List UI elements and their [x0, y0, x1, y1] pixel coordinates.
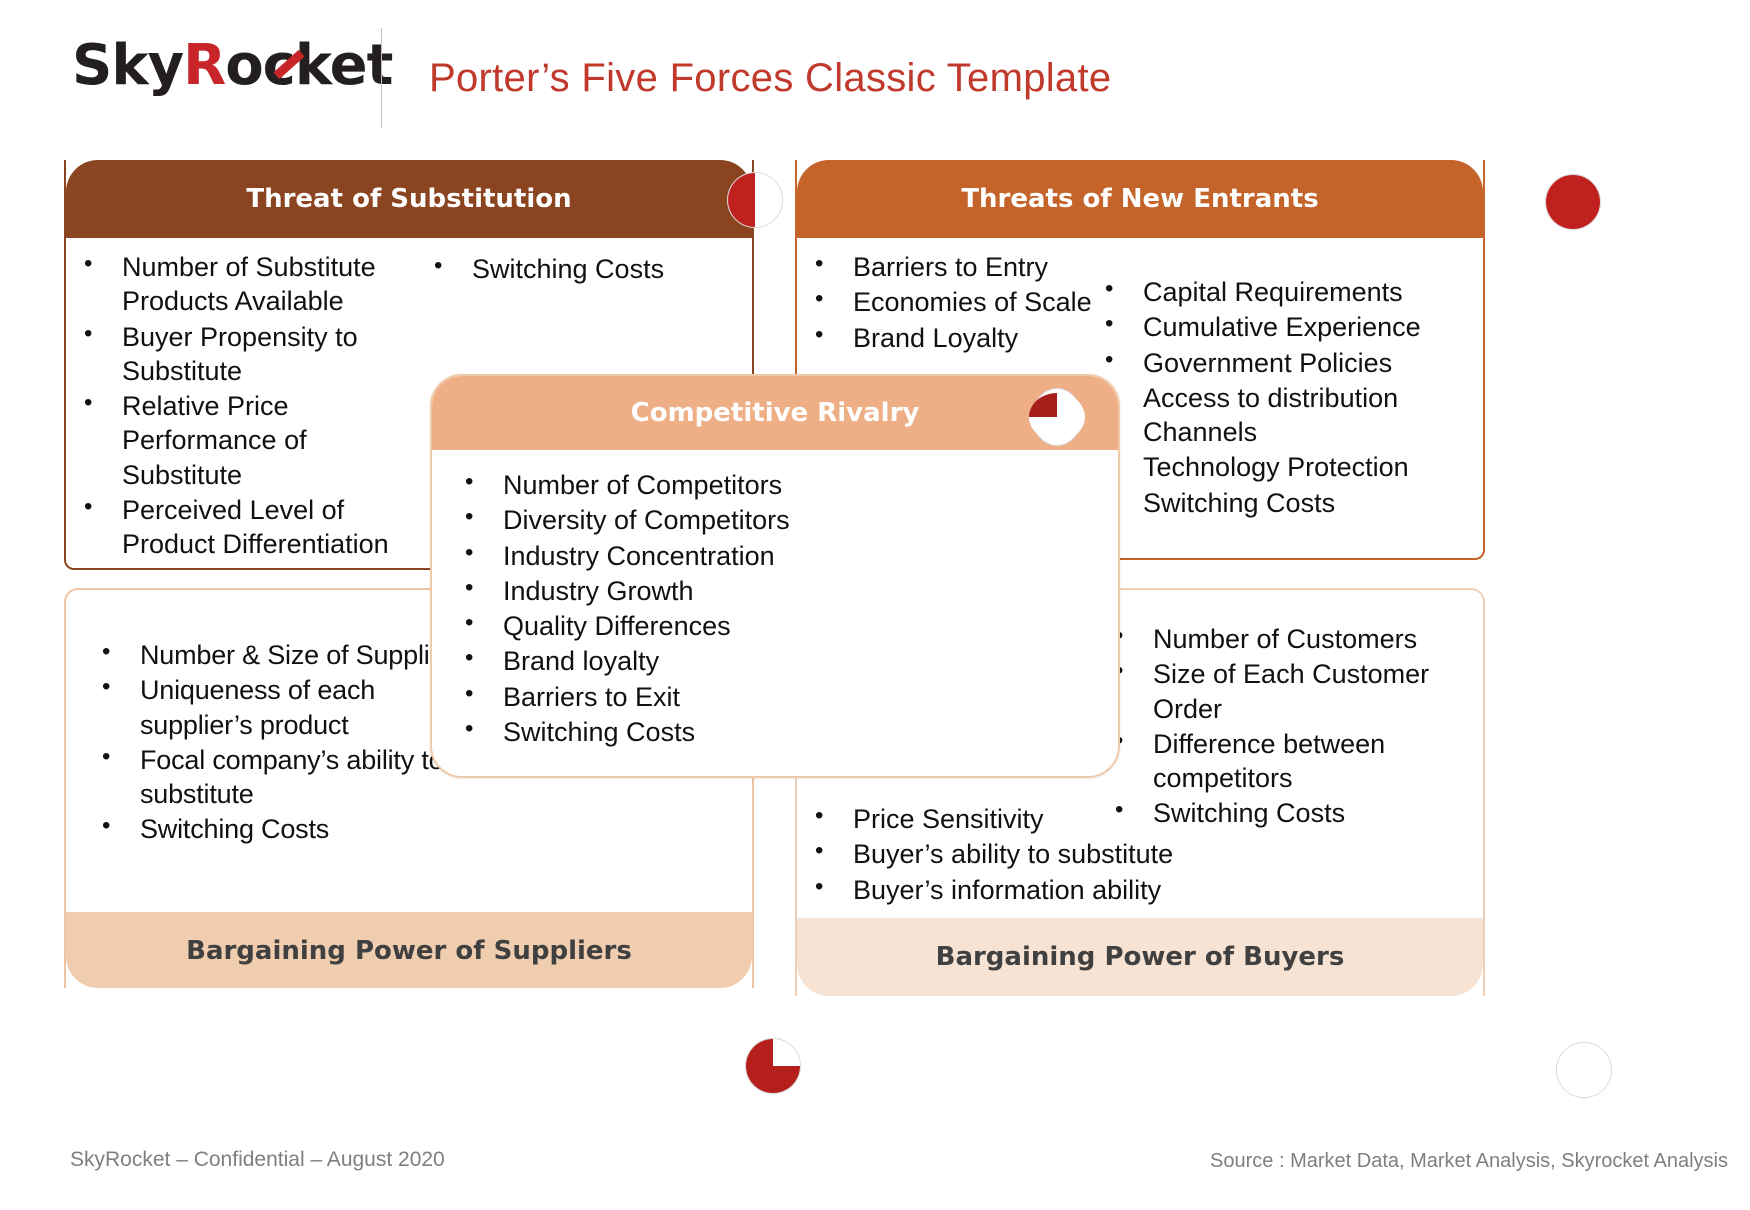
list-item: Barriers to Exit: [457, 680, 1077, 714]
page-header: SkyRocket Porter’s Five Forces Classic T…: [0, 0, 1750, 150]
list-item: Perceived Level of Product Differentiati…: [76, 493, 416, 562]
list-item: Brand Loyalty: [807, 321, 1137, 355]
list-item: Difference between competitors: [1107, 727, 1477, 796]
list-item: Switching Costs: [457, 715, 1077, 749]
list-item: Switching Costs: [94, 812, 484, 846]
list-item: Technology Protection: [1097, 450, 1477, 484]
list-item: Government Policies: [1097, 346, 1477, 380]
list-item: Buyer’s information ability: [807, 873, 1227, 907]
header-divider: [381, 28, 382, 128]
list-item: Focal company’s ability to substitute: [94, 743, 484, 812]
logo-text-sky: Sky: [72, 33, 183, 98]
list-item: Size of Each Customer Order: [1107, 657, 1477, 726]
card-title-threats-of-new-entrants: Threats of New Entrants: [797, 184, 1483, 214]
skyrocket-logo: SkyRocket: [72, 38, 392, 94]
pie-slice: [746, 1039, 800, 1093]
list-item: Number of Competitors: [457, 468, 1077, 502]
bullet-column: Number & Size of SuppliersUniqueness of …: [94, 638, 484, 848]
logo-text-r: R: [183, 33, 225, 98]
list-item: Barriers to Entry: [807, 250, 1137, 284]
list-item: Quality Differences: [457, 609, 1077, 643]
list-item: Capital Requirements: [1097, 275, 1477, 309]
list-item: Diversity of Competitors: [457, 503, 1077, 537]
pie-chart-icon-suppliers: [745, 1038, 801, 1094]
bullet-column: Barriers to EntryEconomies of ScaleBrand…: [807, 250, 1137, 356]
bullet-column: Capital RequirementsCumulative Experienc…: [1097, 275, 1477, 521]
list-item: Industry Growth: [457, 574, 1077, 608]
card-title-bargaining-power-of-buyers: Bargaining Power of Buyers: [797, 942, 1483, 972]
pie-chart-icon-substitution: [727, 172, 783, 228]
list-item: Relative Price Performance of Substitute: [76, 389, 416, 492]
list-item: Switching Costs: [1097, 486, 1477, 520]
pie-chart-icon-buyers: [1556, 1042, 1612, 1098]
bullet-column: Number of Substitute Products AvailableB…: [76, 250, 416, 563]
logo-text-ocket: ocket: [225, 33, 392, 98]
bullet-column: Number of CompetitorsDiversity of Compet…: [457, 468, 1077, 750]
list-item: Access to distribution Channels: [1097, 381, 1477, 450]
list-item: Uniqueness of each supplier’s product: [94, 673, 484, 742]
card-competitive-rivalry[interactable]: Competitive Rivalry Number of Competitor…: [430, 374, 1120, 778]
page-title: Porter’s Five Forces Classic Template: [429, 56, 1111, 101]
list-item: Number of Substitute Products Available: [76, 250, 416, 319]
list-item: Price Sensitivity: [807, 802, 1227, 836]
bullet-column: Switching Costs: [426, 252, 746, 287]
list-item: Buyer Propensity to Substitute: [76, 320, 416, 389]
list-item: Number of Customers: [1107, 622, 1477, 656]
pie-chart-icon-entrants: [1545, 174, 1601, 230]
list-item: Switching Costs: [426, 252, 746, 286]
card-title-competitive-rivalry: Competitive Rivalry: [432, 398, 1118, 428]
list-item: Brand loyalty: [457, 644, 1077, 678]
list-item: Buyer’s ability to substitute: [807, 837, 1227, 871]
card-title-bargaining-power-of-suppliers: Bargaining Power of Suppliers: [66, 936, 752, 966]
pie-slice: [728, 173, 782, 227]
pie-slice: [1557, 1043, 1611, 1097]
card-title-threat-of-substitution: Threat of Substitution: [66, 184, 752, 214]
pie-chart-icon-rivalry: [1032, 388, 1082, 446]
pie-slice: [1029, 393, 1085, 441]
bullet-column: Price SensitivityBuyer’s ability to subs…: [807, 802, 1227, 908]
list-item: Economies of Scale: [807, 285, 1137, 319]
bullet-column: Number of CustomersSize of Each Customer…: [1107, 622, 1477, 832]
footer-confidential-note: SkyRocket – Confidential – August 2020: [70, 1148, 445, 1172]
list-item: Cumulative Experience: [1097, 310, 1477, 344]
footer-source-note: Source : Market Data, Market Analysis, S…: [1210, 1150, 1728, 1173]
list-item: Number & Size of Suppliers: [94, 638, 484, 672]
pie-slice: [1546, 175, 1600, 229]
list-item: Industry Concentration: [457, 539, 1077, 573]
